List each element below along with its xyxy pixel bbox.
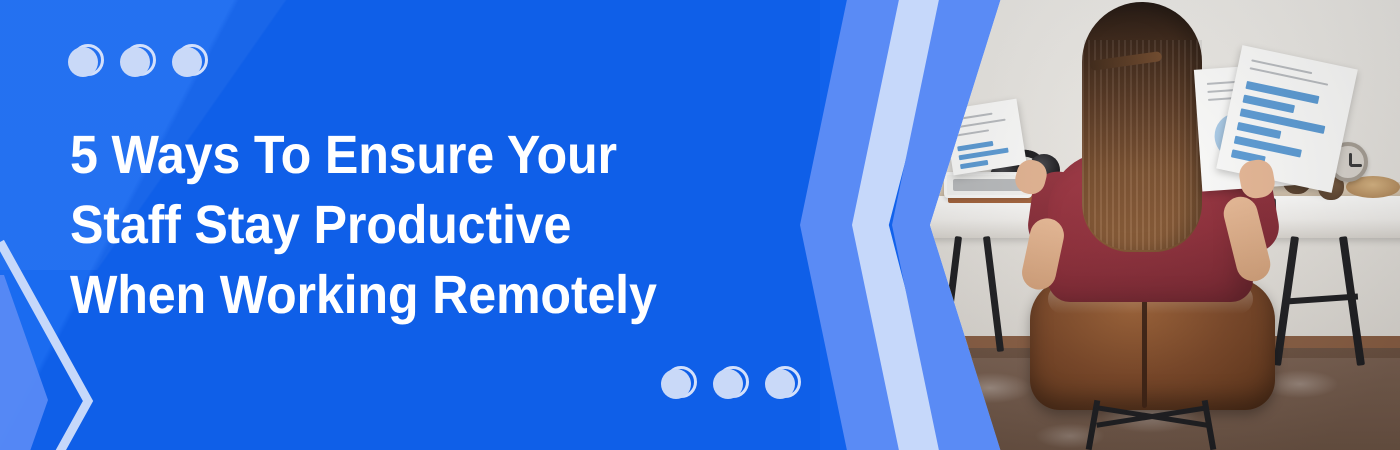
decorative-dots-top (68, 44, 208, 80)
dot-icon (172, 44, 208, 80)
headline-line-3: When Working Remotely (70, 260, 777, 330)
dot-icon (765, 366, 801, 402)
dot-icon (68, 44, 104, 80)
dot-icon (120, 44, 156, 80)
article-hero-banner: 5 Ways To Ensure Your Staff Stay Product… (0, 0, 1400, 450)
hero-photo (930, 0, 1400, 450)
stool-seam (1142, 300, 1147, 408)
stool-legs (1080, 400, 1230, 450)
dot-icon (661, 366, 697, 402)
headline-line-2: Staff Stay Productive (70, 190, 777, 260)
banner-headline: 5 Ways To Ensure Your Staff Stay Product… (70, 120, 777, 330)
headline-line-1: 5 Ways To Ensure Your (70, 120, 777, 190)
dot-icon (713, 366, 749, 402)
decorative-dots-bottom (661, 366, 801, 402)
hair-strands (1082, 40, 1202, 250)
hero-photo-scene (930, 0, 1400, 450)
